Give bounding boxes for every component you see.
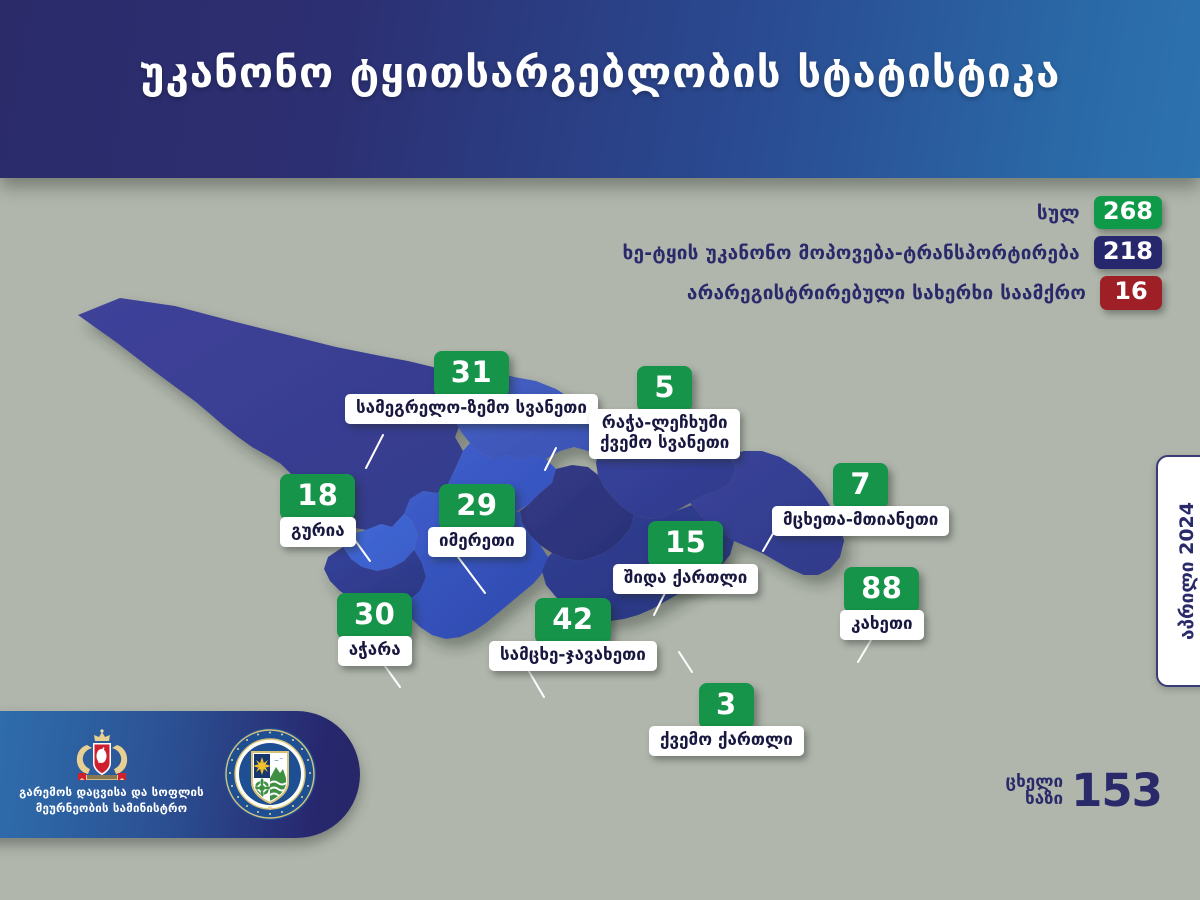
callout-name-mtskheta: მცხეთა-მთიანეთი xyxy=(772,506,949,536)
callout-count-adjara: 30 xyxy=(337,593,412,639)
legend-row-unregistered-sawmill: არარეგისტრირებული სახერხი საამქრო 16 xyxy=(623,276,1163,309)
legend-value-unregistered-sawmill: 16 xyxy=(1100,276,1162,309)
callout-count-mtskheta: 7 xyxy=(833,463,888,509)
callout-kvemo: 3 ქვემო ქართლი xyxy=(649,683,804,756)
date-tab: აპრილი 2024 xyxy=(1156,455,1200,687)
legend-label-illegal-logging-transport: ხე-ტყის უკანონო მოპოვება-ტრანსპორტირება xyxy=(623,242,1080,264)
callout-samtskhe: 42 სამცხე-ჯავახეთი xyxy=(489,598,657,671)
callout-name-samegrelo: სამეგრელო-ზემო სვანეთი xyxy=(345,394,598,424)
date-tab-label: აპრილი 2024 xyxy=(1176,502,1198,640)
callout-name-racha: რაჭა-ლეჩხუმი ქვემო სვანეთი xyxy=(589,409,740,459)
hotline: ცხელი ხაზი 153 xyxy=(1006,772,1162,811)
callout-kakheti: 88 კახეთი xyxy=(840,567,924,640)
callout-name-guria: გურია xyxy=(280,517,356,547)
callout-count-samegrelo: 31 xyxy=(434,351,509,397)
legend-row-illegal-logging-transport: ხე-ტყის უკანონო მოპოვება-ტრანსპორტირება … xyxy=(623,236,1163,269)
infographic-root: უკანონო ტყითსარგებლობის სტატისტიკა სულ 2… xyxy=(0,0,1200,900)
callout-guria: 18 გურია xyxy=(280,474,356,547)
callout-name-samtskhe: სამცხე-ჯავახეთი xyxy=(489,641,657,671)
callout-racha: 5 რაჭა-ლეჩხუმი ქვემო სვანეთი xyxy=(589,366,740,459)
legend: სულ 268 ხე-ტყის უკანონო მოპოვება-ტრანსპო… xyxy=(623,196,1163,310)
callout-count-racha: 5 xyxy=(637,366,692,412)
georgia-coat-of-arms-icon xyxy=(68,729,136,785)
callout-name-imereti: იმერეთი xyxy=(428,527,526,557)
callout-count-kvemo: 3 xyxy=(699,683,754,729)
ministry-seal-icon xyxy=(222,726,318,822)
legend-row-total: სულ 268 xyxy=(623,196,1163,229)
legend-value-total: 268 xyxy=(1094,196,1162,229)
callout-mtskheta: 7 მცხეთა-მთიანეთი xyxy=(772,463,949,536)
callout-count-shida: 15 xyxy=(648,521,723,567)
ministry-name: გარემოს დაცვისა და სოფლის მეურნეობის სამ… xyxy=(4,785,219,817)
callout-count-samtskhe: 42 xyxy=(535,598,610,644)
callout-shida: 15 შიდა ქართლი xyxy=(613,521,758,594)
callout-name-shida: შიდა ქართლი xyxy=(613,564,758,594)
page-title: უკანონო ტყითსარგებლობის სტატისტიკა xyxy=(0,48,1200,97)
legend-label-unregistered-sawmill: არარეგისტრირებული სახერხი საამქრო xyxy=(687,282,1086,304)
header-banner: უკანონო ტყითსარგებლობის სტატისტიკა xyxy=(0,0,1200,178)
callout-samegrelo: 31 სამეგრელო-ზემო სვანეთი xyxy=(345,351,598,424)
legend-label-total: სულ xyxy=(1037,202,1080,224)
callout-count-guria: 18 xyxy=(280,474,355,520)
callout-count-kakheti: 88 xyxy=(844,567,919,613)
legend-value-illegal-logging-transport: 218 xyxy=(1094,236,1162,269)
hotline-label: ცხელი ხაზი xyxy=(1006,774,1064,808)
callout-imereti: 29 იმერეთი xyxy=(428,484,526,557)
callout-name-kvemo: ქვემო ქართლი xyxy=(649,726,804,756)
callout-name-adjara: აჭარა xyxy=(338,636,412,666)
callout-name-kakheti: კახეთი xyxy=(840,610,924,640)
callout-adjara: 30 აჭარა xyxy=(337,593,412,666)
callout-count-imereti: 29 xyxy=(439,484,514,530)
hotline-number: 153 xyxy=(1071,772,1162,811)
